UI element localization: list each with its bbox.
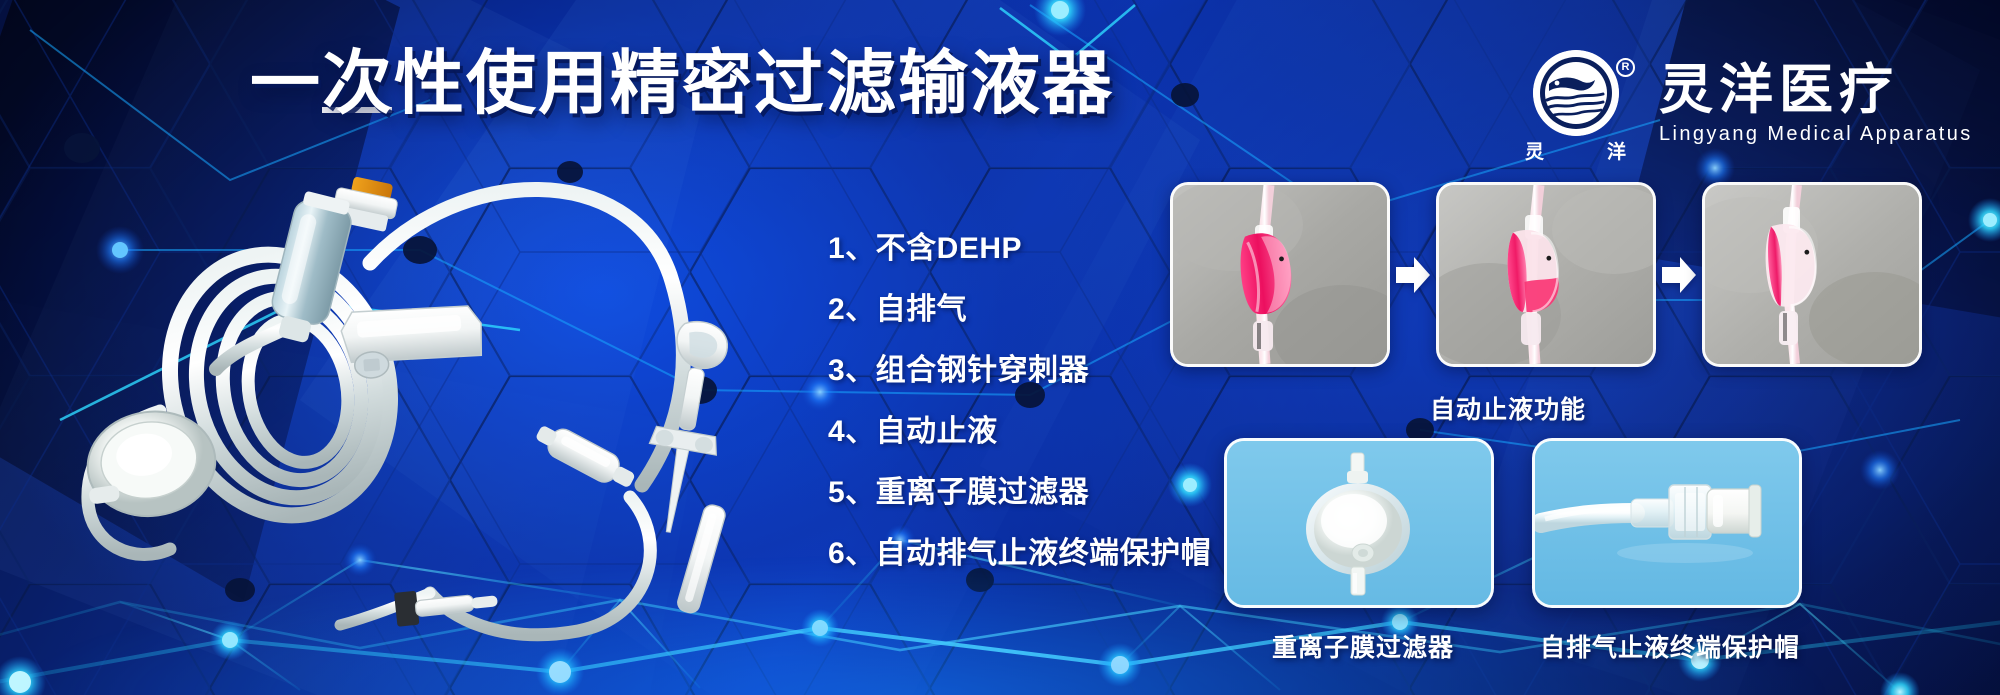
feature-item-4: 4、自动止液 — [828, 401, 1211, 462]
brand-name-cn: 灵洋医疗 — [1659, 62, 1973, 119]
logo-mark-subtext: 灵 洋 — [1525, 137, 1627, 164]
photo-drip-chamber-partial[interactable] — [1436, 182, 1656, 367]
auto-stop-sequence — [1170, 182, 1922, 367]
feature-item-6: 6、自动排气止液终端保护帽 — [828, 523, 1211, 584]
photo-terminal-protective-cap[interactable] — [1532, 438, 1802, 608]
logo-emblem-icon — [1533, 50, 1619, 136]
brand-name-en: Lingyang Medical Apparatus — [1659, 123, 1973, 146]
feature-item-1: 1、不含DEHP — [828, 218, 1211, 279]
feature-list: 1、不含DEHP 2、自排气 3、组合钢针穿刺器 4、自动止液 5、重离子膜过滤… — [828, 218, 1211, 584]
brand-logo: R 灵 洋 灵洋医疗 Lingyang Medical Apparatus — [1525, 48, 1973, 160]
registered-trademark-icon: R — [1616, 58, 1635, 77]
product-photo-infusion-set — [30, 125, 830, 655]
caption-filter: 重离子膜过滤器 — [1272, 628, 1454, 664]
feature-item-2: 2、自排气 — [828, 279, 1211, 340]
logo-mark: R 灵 洋 — [1525, 48, 1637, 160]
page-title: 一次性使用精密过滤输液器 — [250, 48, 1114, 118]
arrow-right-icon-1 — [1390, 255, 1436, 295]
arrow-right-icon-2 — [1656, 255, 1702, 295]
feature-item-3: 3、组合钢针穿刺器 — [828, 340, 1211, 401]
feature-item-5: 5、重离子膜过滤器 — [828, 462, 1211, 523]
photo-heavy-ion-membrane-filter[interactable] — [1224, 438, 1494, 608]
photo-drip-chamber-empty[interactable] — [1702, 182, 1922, 367]
logo-sub-char-right: 洋 — [1607, 137, 1627, 164]
photo-drip-chamber-full[interactable] — [1170, 182, 1390, 367]
product-banner: 一次性使用精密过滤输液器 R 灵 洋 — [0, 0, 2000, 695]
caption-auto-stop: 自动止液功能 — [1430, 390, 1586, 426]
brand-name-block: 灵洋医疗 Lingyang Medical Apparatus — [1659, 62, 1973, 146]
caption-protective-cap: 自排气止液终端保护帽 — [1540, 628, 1800, 664]
logo-sub-char-left: 灵 — [1525, 137, 1545, 164]
